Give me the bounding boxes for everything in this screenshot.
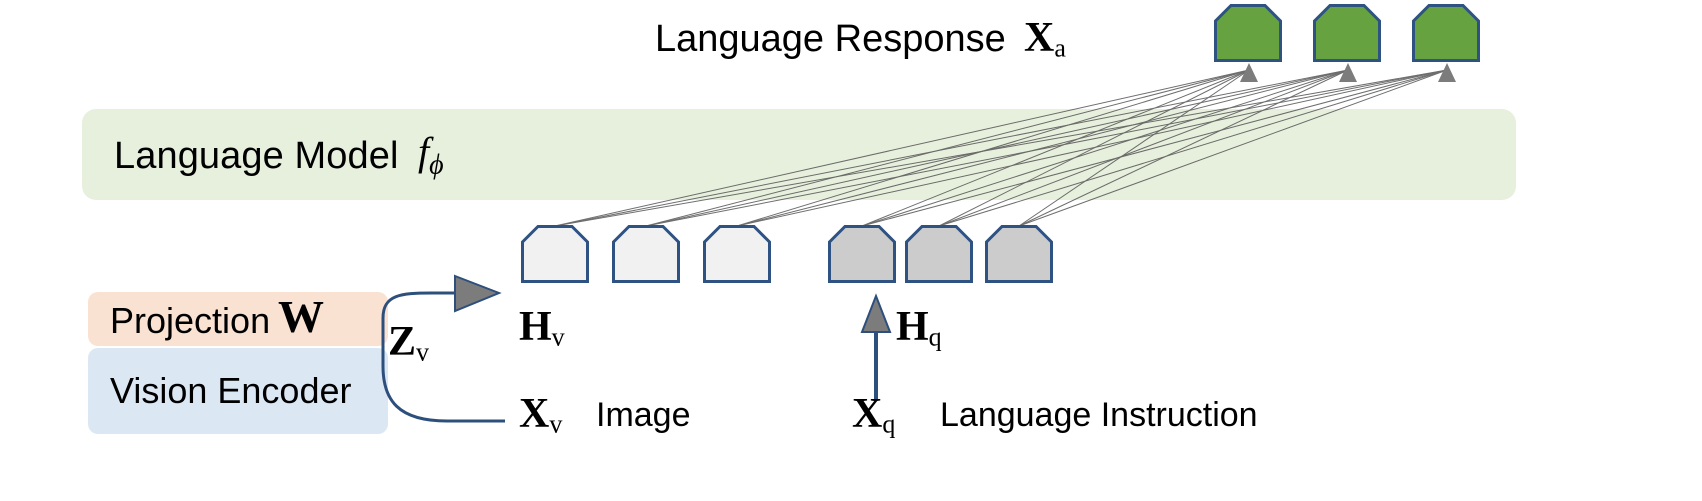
x-a-symbol: Xa [1024, 14, 1066, 64]
text-token [987, 227, 1052, 282]
vision-encoder-label: Vision Encoder [110, 370, 352, 412]
z-v-symbol: Zv [388, 318, 429, 368]
x-v-base: X [519, 391, 549, 437]
w-symbol: W [278, 290, 324, 343]
response-arrowheads [1240, 63, 1456, 82]
figure-canvas: Language Response Xa Language Model fϕ P… [0, 0, 1702, 501]
visual-token-group [523, 227, 770, 282]
w-base: W [278, 291, 324, 342]
diagram-graphics [0, 0, 1702, 501]
image-label: Image [596, 396, 691, 435]
hq-flow-arrow [862, 296, 890, 400]
h-v-base: H [519, 304, 552, 350]
language-model-label: Language Model [114, 135, 399, 178]
visual-token [705, 227, 770, 282]
visual-token [614, 227, 679, 282]
z-v-sub: v [416, 338, 429, 367]
x-q-sub: q [882, 410, 895, 439]
attention-lines [555, 70, 1447, 226]
response-token [1315, 6, 1380, 61]
h-q-base: H [896, 304, 929, 350]
x-v-sub: v [549, 410, 562, 439]
x-a-base: X [1024, 15, 1054, 61]
h-v-symbol: Hv [519, 303, 565, 353]
f-phi-symbol: fϕ [418, 128, 444, 181]
text-token [830, 227, 895, 282]
language-response-label: Language Response [655, 18, 1006, 61]
h-q-sub: q [929, 323, 942, 352]
response-token [1414, 6, 1479, 61]
h-q-symbol: Hq [896, 303, 942, 353]
x-q-symbol: Xq [852, 390, 895, 440]
text-token-group [830, 227, 1052, 282]
projection-label: Projection [110, 300, 270, 342]
h-v-sub: v [552, 323, 565, 352]
response-token [1216, 6, 1281, 61]
x-v-symbol: Xv [519, 390, 562, 440]
x-a-sub: a [1054, 34, 1066, 63]
f-phi-base: f [418, 129, 429, 174]
language-instruction-label: Language Instruction [940, 396, 1258, 435]
text-token [907, 227, 972, 282]
visual-token [523, 227, 588, 282]
zv-arrowhead [455, 276, 499, 311]
f-phi-sub: ϕ [429, 149, 444, 180]
z-v-base: Z [388, 319, 416, 365]
response-token-group [1216, 6, 1479, 61]
x-q-base: X [852, 391, 882, 437]
